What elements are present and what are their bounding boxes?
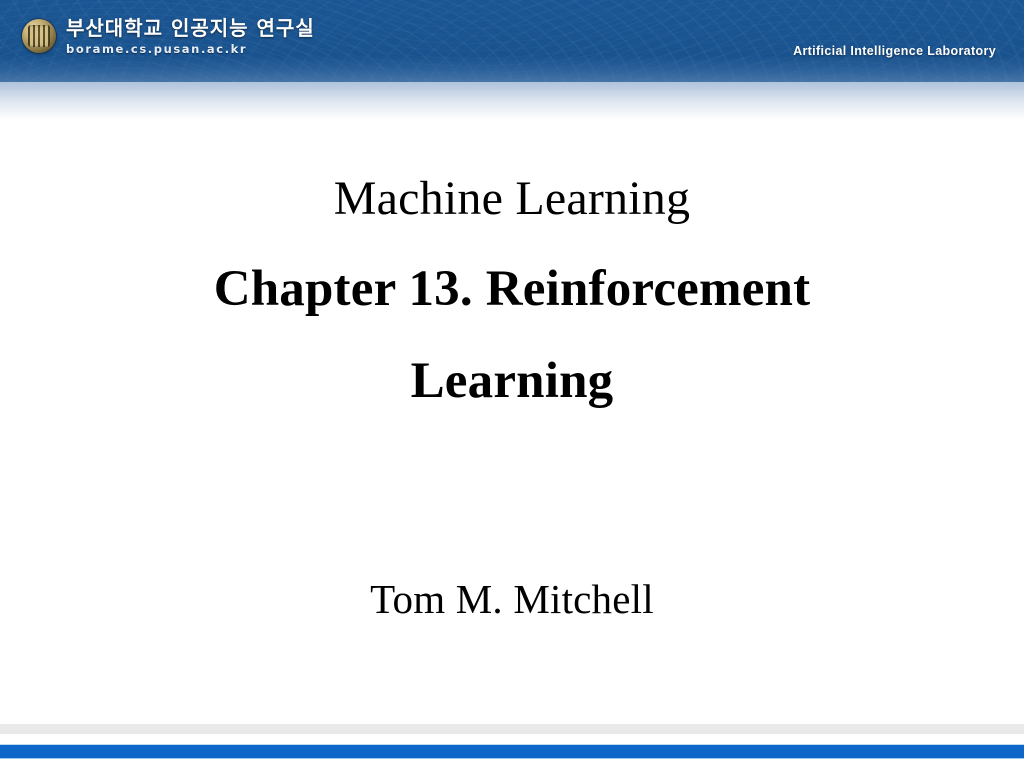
header-gradient-fade	[0, 56, 1024, 120]
slide-footer	[0, 720, 1024, 768]
brand-text: 부산대학교 인공지능 연구실 borame.cs.pusan.ac.kr	[66, 17, 315, 57]
author-name: Tom M. Mitchell	[0, 575, 1024, 623]
brand-url: borame.cs.pusan.ac.kr	[66, 41, 315, 57]
page-title-chapter-line-2: Learning	[0, 335, 1024, 427]
page-title-chapter-line-1: Chapter 13. Reinforcement	[0, 243, 1024, 335]
author-block: Tom M. Mitchell	[0, 575, 1024, 623]
footer-blue-bar	[0, 744, 1024, 759]
slide-header: 부산대학교 인공지능 연구실 borame.cs.pusan.ac.kr Art…	[0, 0, 1024, 120]
slide-title-block: Machine Learning Chapter 13. Reinforceme…	[0, 155, 1024, 427]
page-title-subject: Machine Learning	[0, 155, 1024, 243]
slide-body: Machine Learning Chapter 13. Reinforceme…	[0, 120, 1024, 720]
header-brand: 부산대학교 인공지능 연구실 borame.cs.pusan.ac.kr	[22, 17, 315, 57]
footer-gray-bar	[0, 724, 1024, 734]
university-seal-icon	[22, 19, 56, 53]
lab-name-label: Artificial Intelligence Laboratory	[793, 44, 996, 58]
brand-korean-title: 부산대학교 인공지능 연구실	[66, 17, 315, 39]
